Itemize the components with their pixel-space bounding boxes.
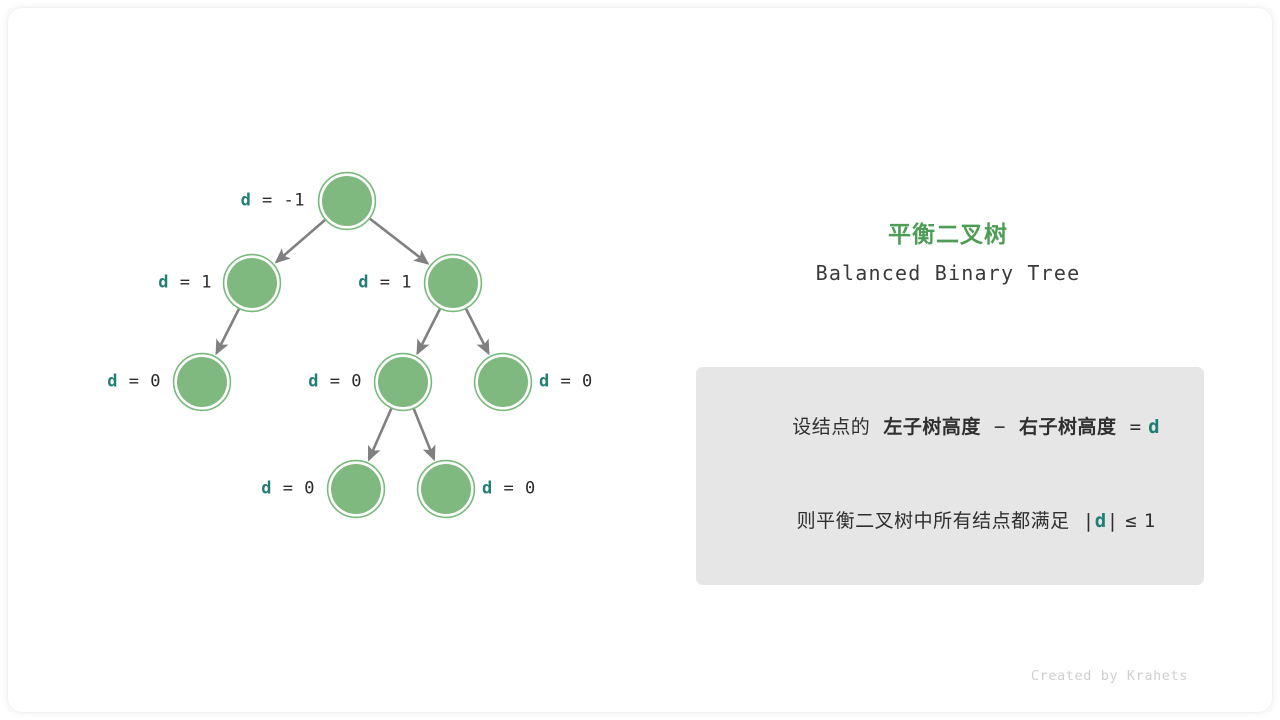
formula-variable-d: d [1148, 416, 1160, 438]
bound-value: 1 [1144, 510, 1156, 532]
tree-node [319, 173, 376, 230]
node-disc [428, 258, 478, 308]
formula-prefix-2: 则平衡二叉树中所有结点都满足 [797, 510, 1070, 532]
label-value: = 1 [169, 273, 212, 293]
node-balance-factor-label: d = 1 [232, 275, 412, 292]
tree-svg-canvas [0, 0, 700, 704]
tree-edge [276, 219, 326, 262]
formula-line-1: 设结点的 左子树高度 − 右子树高度 = d [696, 381, 1204, 475]
node-balance-factor-label: d = 0 [182, 374, 362, 391]
abs-variable-d: d [1095, 510, 1107, 532]
label-value: = 0 [272, 479, 315, 499]
formula-right-subtree-height: 右子树高度 [1019, 416, 1117, 438]
abs-bar-open: | [1083, 510, 1095, 532]
label-variable-d: d [539, 372, 550, 392]
binary-tree-diagram: d = -1d = 1d = 1d = 0d = 0d = 0d = 0d = … [0, 0, 700, 704]
abs-bar-close: | [1107, 510, 1119, 532]
node-disc [322, 176, 372, 226]
formula-prefix-1: 设结点的 [792, 416, 870, 438]
node-disc [378, 357, 428, 407]
node-balance-factor-label: d = 0 [539, 374, 719, 391]
label-variable-d: d [482, 479, 493, 499]
title-english: Balanced Binary Tree [696, 258, 1200, 288]
label-variable-d: d [261, 479, 272, 499]
tree-edge [216, 308, 239, 353]
formula-equals-sign: = [1130, 416, 1142, 438]
formula-line-2: 则平衡二叉树中所有结点都满足 |d| ≤ 1 [696, 475, 1204, 569]
node-disc [331, 464, 381, 514]
formula-box: 设结点的 左子树高度 − 右子树高度 = d 则平衡二叉树中所有结点都满足 |d… [696, 367, 1204, 585]
tree-edge [369, 408, 392, 460]
credit-text: Created by Krahets [0, 668, 1188, 684]
label-value: = 0 [319, 372, 362, 392]
tree-edge [466, 308, 489, 353]
label-value: = 1 [369, 273, 412, 293]
node-balance-factor-label: d = 0 [482, 481, 662, 498]
tree-edge [417, 308, 440, 353]
tree-node [475, 354, 532, 411]
tree-edge [369, 218, 428, 263]
label-variable-d: d [107, 372, 118, 392]
node-disc [421, 464, 471, 514]
title-chinese: 平衡二叉树 [696, 222, 1200, 250]
tree-node [375, 354, 432, 411]
node-balance-factor-label: d = -1 [125, 193, 305, 210]
label-value: = -1 [251, 191, 305, 211]
label-variable-d: d [158, 273, 169, 293]
node-balance-factor-label: d = 1 [32, 275, 212, 292]
formula-left-subtree-height: 左子树高度 [883, 416, 981, 438]
label-value: = 0 [493, 479, 536, 499]
label-value: = 0 [118, 372, 161, 392]
relation-leq: ≤ [1125, 510, 1137, 532]
tree-node [418, 461, 475, 518]
node-balance-factor-label: d = 0 [135, 481, 315, 498]
label-value: = 0 [550, 372, 593, 392]
label-variable-d: d [241, 191, 252, 211]
tree-nodes [174, 173, 532, 518]
tree-edge [413, 408, 434, 459]
label-variable-d: d [308, 372, 319, 392]
tree-node [425, 255, 482, 312]
node-disc [478, 357, 528, 407]
node-balance-factor-label: d = 0 [0, 374, 161, 391]
info-panel: 平衡二叉树 Balanced Binary Tree 设结点的 左子树高度 − … [696, 0, 1276, 704]
tree-node [328, 461, 385, 518]
label-variable-d: d [358, 273, 369, 293]
formula-minus-sign: − [994, 416, 1006, 438]
diagram-page: d = -1d = 1d = 1d = 0d = 0d = 0d = 0d = … [0, 0, 1280, 720]
